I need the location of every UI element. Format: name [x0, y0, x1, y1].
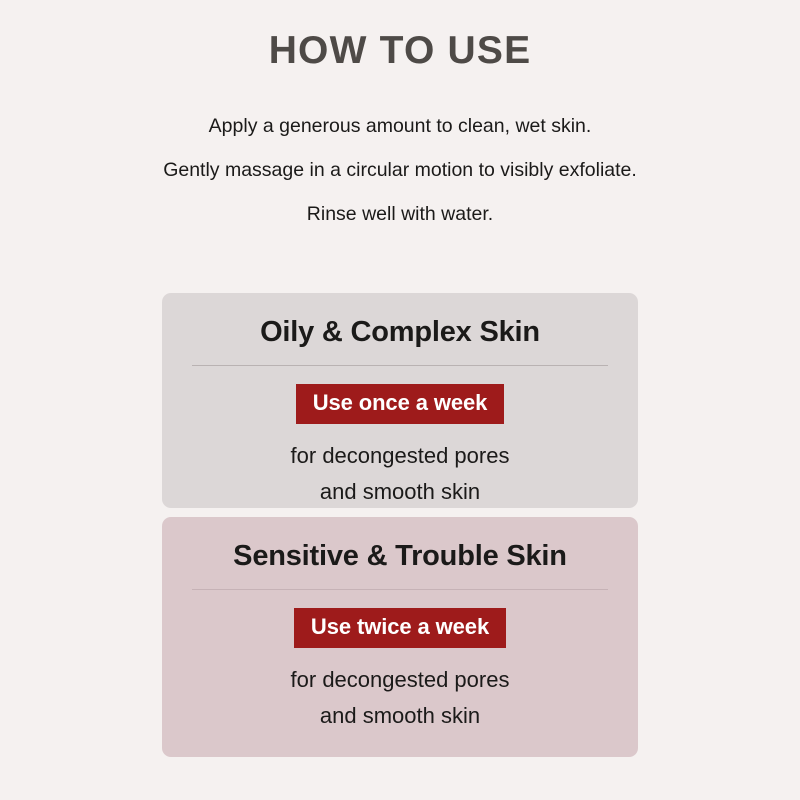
skin-type-cards: Oily & Complex Skin Use once a week for …: [162, 293, 638, 757]
card-body-line-2: and smooth skin: [192, 698, 608, 734]
card-body: for decongested pores and smooth skin: [192, 438, 608, 510]
card-body-line-2: and smooth skin: [192, 474, 608, 510]
intro-line-2: Gently massage in a circular motion to v…: [0, 148, 800, 192]
intro-line-1: Apply a generous amount to clean, wet sk…: [0, 104, 800, 148]
card-oily-complex-skin: Oily & Complex Skin Use once a week for …: [162, 293, 638, 508]
card-divider: [192, 365, 608, 366]
page-title: HOW TO USE: [0, 30, 800, 73]
usage-frequency-badge: Use twice a week: [294, 608, 506, 648]
badge-container: Use twice a week: [192, 608, 608, 648]
card-body: for decongested pores and smooth skin: [192, 662, 608, 734]
badge-container: Use once a week: [192, 384, 608, 424]
card-body-line-1: for decongested pores: [192, 662, 608, 698]
usage-frequency-badge: Use once a week: [296, 384, 505, 424]
how-to-use-panel: HOW TO USE Apply a generous amount to cl…: [0, 0, 800, 800]
card-body-line-1: for decongested pores: [192, 438, 608, 474]
card-divider: [192, 589, 608, 590]
card-sensitive-trouble-skin: Sensitive & Trouble Skin Use twice a wee…: [162, 517, 638, 757]
header: HOW TO USE: [0, 30, 800, 73]
card-title: Oily & Complex Skin: [192, 315, 608, 349]
card-title: Sensitive & Trouble Skin: [192, 539, 608, 573]
intro-line-3: Rinse well with water.: [0, 192, 800, 236]
intro-instructions: Apply a generous amount to clean, wet sk…: [0, 104, 800, 236]
